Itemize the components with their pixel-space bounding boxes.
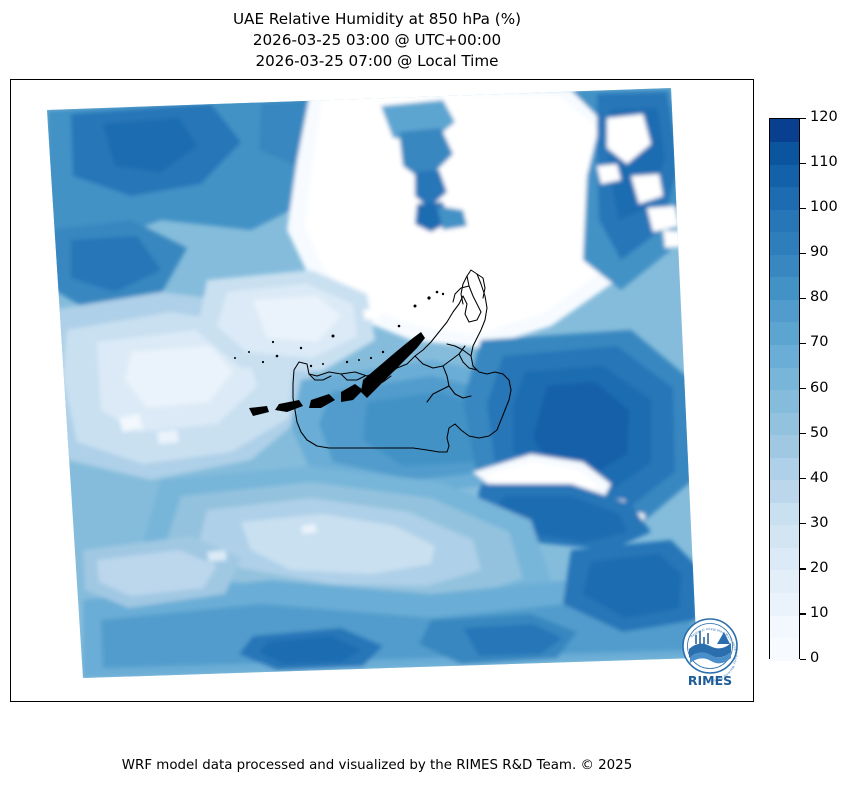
- colorbar-band: [770, 412, 799, 435]
- colorbar-tick-mark: [800, 388, 806, 389]
- colorbar-band: [770, 322, 799, 345]
- colorbar-band: [770, 390, 799, 413]
- colorbar-tick-label: 50: [810, 424, 828, 443]
- colorbar-band: [770, 232, 799, 255]
- colorbar-tick-mark: [800, 433, 806, 434]
- colorbar-tick-mark: [800, 613, 806, 614]
- colorbar-tick-label: 90: [810, 243, 828, 262]
- colorbar-band: [770, 119, 799, 142]
- colorbar-band: [770, 344, 799, 367]
- colorbar-band: [770, 457, 799, 480]
- colorbar-band: [770, 254, 799, 277]
- map-plot-area: [10, 79, 754, 702]
- colorbar-band: [770, 435, 799, 458]
- chart-title-block: UAE Relative Humidity at 850 hPa (%) 202…: [0, 9, 754, 72]
- colorbar-tick-mark: [800, 298, 806, 299]
- chart-title-line-3: 2026-03-25 07:00 @ Local Time: [0, 51, 754, 72]
- colorbar-tick-mark: [800, 568, 806, 569]
- colorbar-band: [770, 615, 799, 638]
- colorbar-tick-mark: [800, 659, 806, 660]
- colorbar-tick-label: 120: [810, 108, 838, 127]
- colorbar-tick-mark: [800, 118, 806, 119]
- map-clip: [11, 80, 753, 701]
- colorbar-tick-label: 0: [810, 649, 819, 668]
- colorbar-tick-mark: [800, 163, 806, 164]
- colorbar-band: [770, 592, 799, 615]
- colorbar-band: [770, 299, 799, 322]
- colorbar-tick-label: 30: [810, 514, 828, 533]
- chart-title-line-2: 2026-03-25 03:00 @ UTC+00:00: [0, 30, 754, 51]
- contour-field: [11, 80, 753, 701]
- colorbar-tick-mark: [800, 523, 806, 524]
- colorbar-band: [770, 187, 799, 210]
- colorbar-tick-mark: [800, 343, 806, 344]
- colorbar-band: [770, 209, 799, 232]
- colorbar-tick-axis: 0102030405060708090100110120: [800, 118, 844, 659]
- colorbar-band: [770, 637, 799, 660]
- colorbar-tick-label: 40: [810, 469, 828, 488]
- colorbar-tick-label: 10: [810, 604, 828, 623]
- colorbar-band: [770, 502, 799, 525]
- chart-title-line-1: UAE Relative Humidity at 850 hPa (%): [0, 9, 754, 30]
- colorbar-tick-mark: [800, 253, 806, 254]
- colorbar-band: [770, 367, 799, 390]
- humidity-contour-map: [11, 80, 753, 701]
- colorbar-tick-label: 20: [810, 559, 828, 578]
- colorbar-band: [770, 164, 799, 187]
- colorbar-tick-label: 60: [810, 379, 828, 398]
- colorbar-band: [770, 547, 799, 570]
- figure-root: UAE Relative Humidity at 850 hPa (%) 202…: [0, 0, 844, 788]
- colorbar-band: [770, 142, 799, 165]
- colorbar-band: [770, 570, 799, 593]
- colorbar-tick-label: 70: [810, 333, 828, 352]
- colorbar-tick-mark: [800, 208, 806, 209]
- colorbar-band: [770, 480, 799, 503]
- colorbar-band: [770, 277, 799, 300]
- colorbar-band: [770, 525, 799, 548]
- colorbar-tick-mark: [800, 478, 806, 479]
- colorbar[interactable]: 0102030405060708090100110120: [769, 118, 800, 659]
- colorbar-tick-label: 110: [810, 153, 838, 172]
- colorbar-tick-label: 100: [810, 198, 838, 217]
- colorbar-gradient: [769, 118, 800, 659]
- colorbar-tick-label: 80: [810, 288, 828, 307]
- figure-footer-credit: WRF model data processed and visualized …: [0, 758, 754, 773]
